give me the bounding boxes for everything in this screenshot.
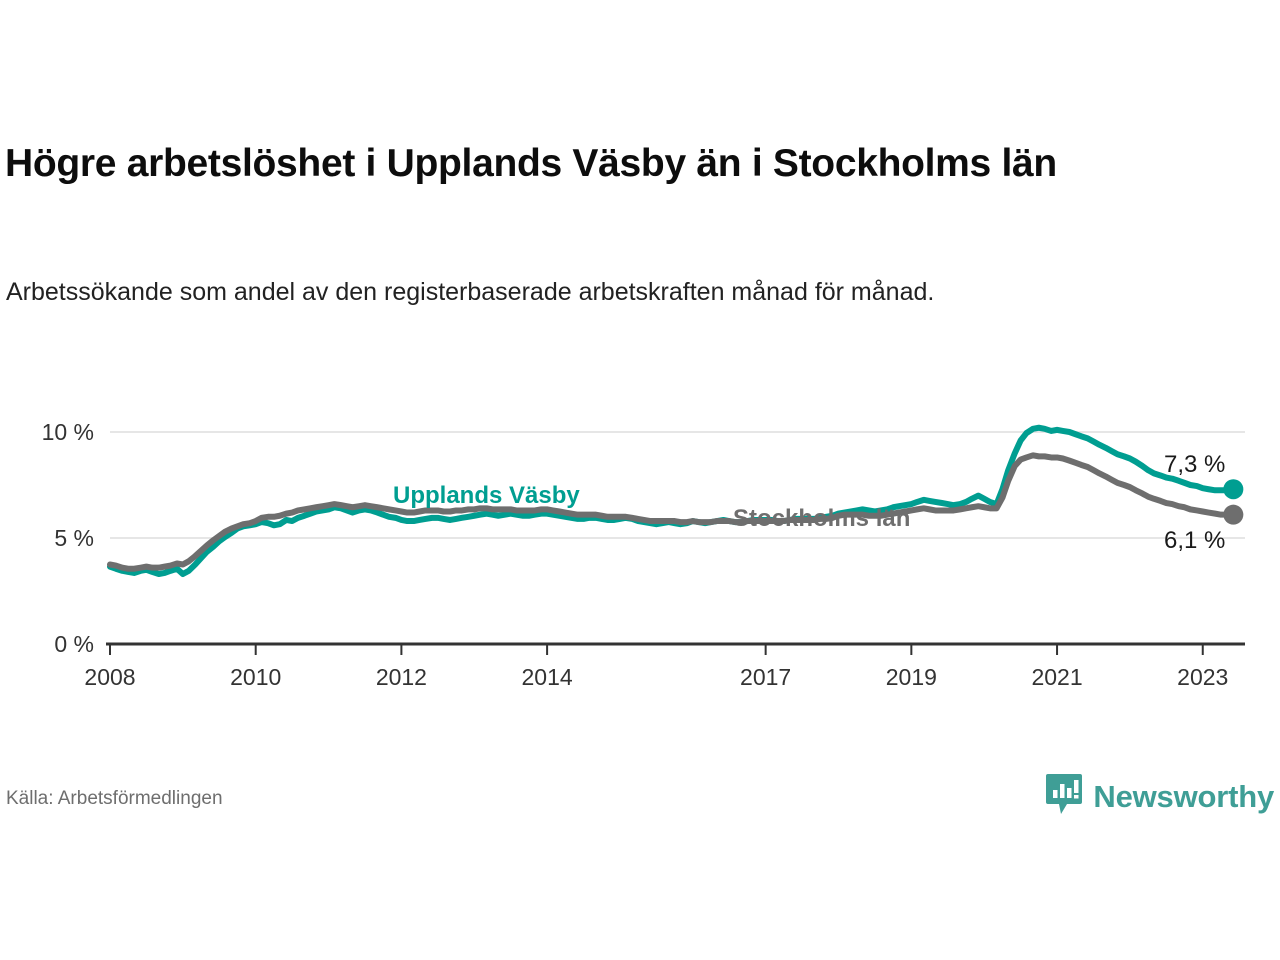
newsworthy-logo[interactable]: Newsworthy [1045,772,1274,821]
page-title: Högre arbetslöshet i Upplands Väsby än i… [5,142,1275,186]
series-1-inline-label: Upplands Väsby [393,482,580,509]
x-tick-label-2014: 2014 [522,664,573,690]
chart-subtitle: Arbetssökande som andel av den registerb… [6,277,1186,308]
series-paths [110,428,1243,574]
series-end-dot-1 [1223,479,1243,499]
x-tick-label-2021: 2021 [1031,664,1082,690]
chart-plot-area: 0 %5 %10 % 20082010201220142017201920212… [0,400,1280,700]
x-tick-label-2012: 2012 [376,664,427,690]
y-tick-label-10: 10 % [42,419,94,445]
y-tick-label-0: 0 % [54,631,94,657]
series-1-end-value: 7,3 % [1164,451,1225,478]
x-tick-label-2010: 2010 [230,664,281,690]
x-tick-label-2008: 2008 [84,664,135,690]
series-line-1 [110,428,1233,574]
x-tick-label-2023: 2023 [1177,664,1228,690]
line-chart-svg: 0 %5 %10 % 20082010201220142017201920212… [0,400,1280,700]
y-tick-label-5: 5 % [54,525,94,551]
y-axis-ticks: 0 %5 %10 % [42,419,94,657]
series-line-2 [110,455,1233,568]
x-axis-ticks: 20082010201220142017201920212023 [84,644,1228,690]
logo-text: Newsworthy [1093,779,1274,815]
bar-chart-bubble-icon [1045,772,1083,821]
x-tick-label-2017: 2017 [740,664,791,690]
series-2-end-value: 6,1 % [1164,527,1225,554]
series-2-inline-label: Stockholms län [733,505,910,532]
chart-card: Högre arbetslöshet i Upplands Väsby än i… [0,0,1280,960]
source-note: Källa: Arbetsförmedlingen [6,788,223,810]
series-end-dot-2 [1223,505,1243,525]
x-tick-label-2019: 2019 [886,664,937,690]
